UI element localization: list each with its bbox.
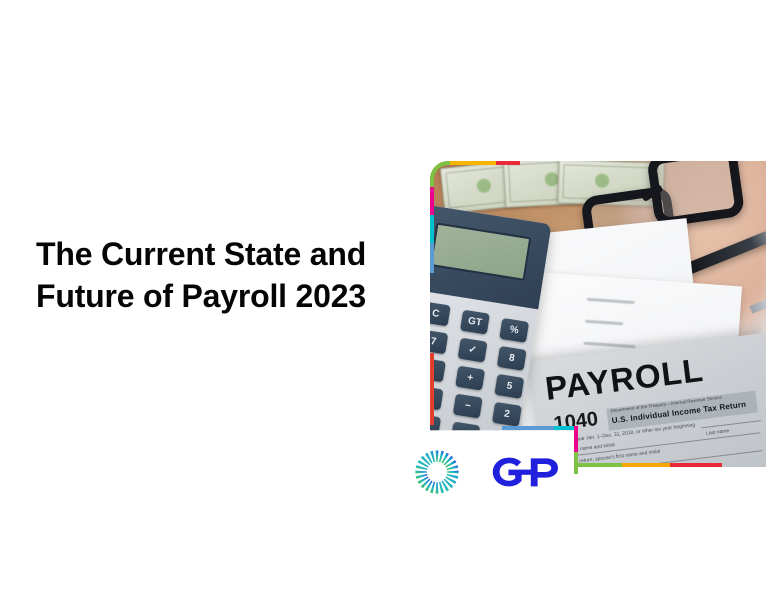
gp-wordmark	[486, 451, 566, 493]
calculator-key: 2	[492, 402, 522, 427]
page-title: The Current State and Future of Payroll …	[36, 233, 436, 317]
calculator-key: GT	[460, 310, 490, 335]
hero-image-clip: PAYROLL 1040 Department of the Treasury—…	[430, 161, 766, 467]
calculator-key: 1	[430, 385, 444, 410]
hero-photo: PAYROLL 1040 Department of the Treasury—…	[430, 161, 766, 467]
calculator-key: =	[450, 422, 480, 447]
eyeglasses-lens	[646, 161, 745, 228]
calculator-key: ✓	[458, 338, 488, 363]
calculator-key: %	[499, 318, 529, 343]
calculator-key: +	[455, 366, 485, 391]
calculator-key: 5	[494, 374, 524, 399]
calculator-key: C	[430, 301, 451, 326]
calculator-key: 8	[497, 346, 527, 371]
form-number: 1040	[552, 408, 599, 436]
calculator-key: 7	[430, 329, 448, 354]
burst-icon	[414, 449, 460, 495]
brand-logo	[414, 449, 564, 495]
slide-canvas: The Current State and Future of Payroll …	[0, 0, 766, 600]
calculator-key: 0	[430, 413, 441, 438]
calculator-key: 4	[430, 357, 446, 382]
hero-image: PAYROLL 1040 Department of the Treasury—…	[430, 161, 766, 467]
calculator-key: −	[453, 394, 483, 419]
